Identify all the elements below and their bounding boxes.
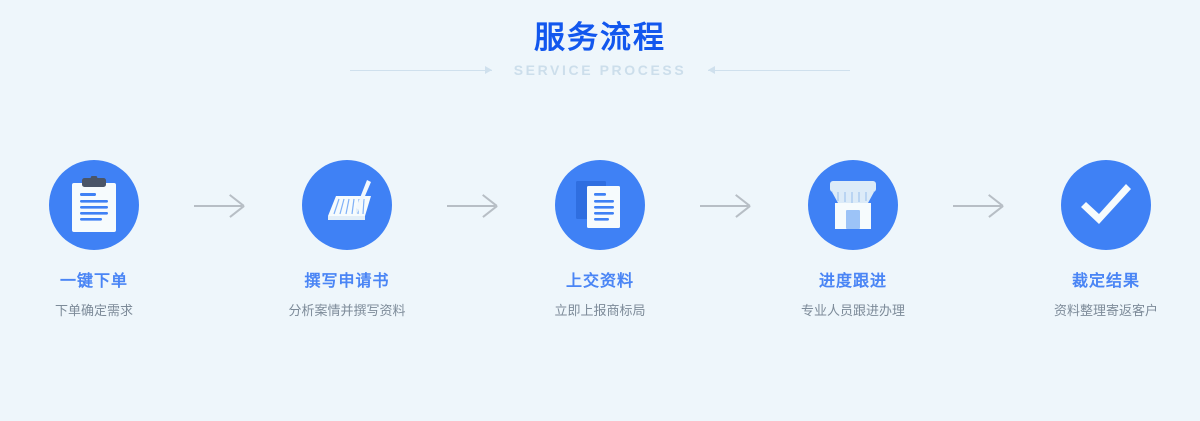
service-process-banner: 服务流程 SERVICE PROCESS [0, 0, 1200, 421]
checkmark-icon [1077, 181, 1135, 229]
step-icon-circle [555, 160, 645, 250]
decorative-line-left [350, 65, 492, 75]
process-step: 裁定结果 资料整理寄返客户 [1019, 160, 1194, 320]
flow-arrow [688, 160, 766, 250]
step-icon-circle [808, 160, 898, 250]
process-step: 上交资料 立即上报商标局 [513, 160, 688, 320]
pen-writing-icon [315, 176, 379, 234]
step-title: 裁定结果 [1072, 272, 1140, 292]
process-step: 进度跟进 专业人员跟进办理 [766, 160, 941, 320]
step-description: 资料整理寄返客户 [1054, 302, 1158, 320]
process-step: 撰写申请书 分析案情并撰写资料 [260, 160, 435, 320]
storefront-icon [824, 179, 882, 231]
flow-arrow [435, 160, 513, 250]
step-icon-circle [49, 160, 139, 250]
subtitle-row: SERVICE PROCESS [0, 62, 1200, 78]
step-title: 进度跟进 [819, 272, 887, 292]
page-subtitle: SERVICE PROCESS [492, 62, 709, 78]
flow-arrow [182, 160, 260, 250]
step-description: 下单确定需求 [55, 302, 133, 320]
documents-icon [572, 176, 628, 234]
page-title: 服务流程 [0, 18, 1200, 58]
step-title: 一键下单 [60, 272, 128, 292]
process-step: 一键下单 下单确定需求 [7, 160, 182, 320]
step-description: 专业人员跟进办理 [801, 302, 905, 320]
clipboard-icon [67, 176, 121, 234]
flow-arrow [941, 160, 1019, 250]
step-title: 上交资料 [566, 272, 634, 292]
step-title: 撰写申请书 [304, 272, 389, 292]
step-description: 立即上报商标局 [554, 302, 645, 320]
step-icon-circle [1061, 160, 1151, 250]
step-icon-circle [302, 160, 392, 250]
step-description: 分析案情并撰写资料 [288, 302, 405, 320]
decorative-line-right [708, 65, 850, 75]
header: 服务流程 SERVICE PROCESS [0, 18, 1200, 78]
process-steps: 一键下单 下单确定需求 [0, 160, 1200, 320]
